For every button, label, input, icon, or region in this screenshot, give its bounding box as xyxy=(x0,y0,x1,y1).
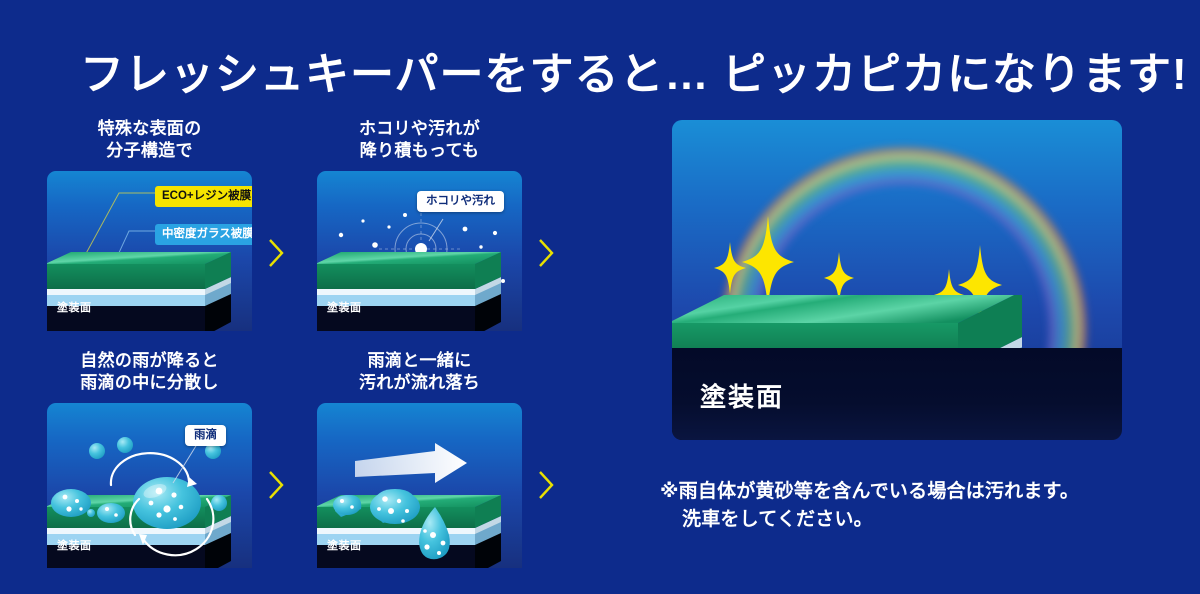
step-2-surface-label: 塗装面 xyxy=(327,299,362,315)
step-1-caption: 特殊な表面の 分子構造で xyxy=(47,118,252,163)
step-4: 雨滴と一緒に 汚れが流れ落ち xyxy=(317,350,522,568)
footnote-line2: 洗車をしてください。 xyxy=(660,506,1130,534)
step-2-caption-line2: 降り積もっても xyxy=(317,140,522,162)
hero-surface-label: 塗装面 xyxy=(700,377,784,414)
step-3-caption-line1: 自然の雨が降ると xyxy=(47,350,252,372)
step-3-label-raindrop: 雨滴 xyxy=(185,425,226,447)
step-3-slab xyxy=(47,495,235,568)
step-1-caption-line2: 分子構造で xyxy=(47,140,252,162)
heading-right: ピッカピカになります! xyxy=(722,38,1188,102)
step-4-slab xyxy=(317,495,505,568)
step-2-slab xyxy=(317,256,505,331)
step-3-card: 塗装面 雨滴 xyxy=(47,403,252,568)
step-2: ホコリや汚れが 降り積もっても xyxy=(317,118,522,331)
step-4-card: 塗装面 xyxy=(317,403,522,568)
footnote: ※雨自体が黄砂等を含んでいる場合は汚れます。 洗車をしてください。 xyxy=(660,478,1130,533)
step-1-label-glass: 中密度ガラス被膜 xyxy=(155,224,252,246)
step-1-slab xyxy=(47,256,235,331)
step-1: 特殊な表面の 分子構造で xyxy=(47,118,252,331)
steps-grid: 特殊な表面の 分子構造で xyxy=(0,110,620,590)
step-3-surface-label: 塗装面 xyxy=(57,537,92,553)
hero-panel: 塗装面 xyxy=(672,120,1122,440)
step-2-card: 塗装面 ホコリや汚れ xyxy=(317,171,522,331)
heading-left: フレッシュキーパーをすると… xyxy=(80,38,710,102)
step-2-caption: ホコリや汚れが 降り積もっても xyxy=(317,118,522,163)
step-3-caption: 自然の雨が降ると 雨滴の中に分散し xyxy=(47,350,252,395)
chevron-right-icon-2 xyxy=(535,236,557,270)
step-3-caption-line2: 雨滴の中に分散し xyxy=(47,372,252,394)
step-2-label-dust: ホコリや汚れ xyxy=(417,191,504,213)
infographic-root: フレッシュキーパーをすると… ピッカピカになります! 特殊な表面の 分子構造で xyxy=(0,0,1200,594)
step-2-caption-line1: ホコリや汚れが xyxy=(317,118,522,140)
step-1-surface-label: 塗装面 xyxy=(57,299,92,315)
chevron-right-icon-4 xyxy=(535,468,557,502)
step-1-caption-line1: 特殊な表面の xyxy=(47,118,252,140)
step-1-label-eco: ECO+レジン被膜 xyxy=(155,186,252,208)
step-1-card: 塗装面 ECO+レジン被膜 中密度ガラス被膜 xyxy=(47,171,252,331)
step-4-caption-line2: 汚れが流れ落ち xyxy=(317,372,522,394)
chevron-right-icon-1 xyxy=(265,236,287,270)
step-3: 自然の雨が降ると 雨滴の中に分散し xyxy=(47,350,252,568)
step-4-caption-line1: 雨滴と一緒に xyxy=(317,350,522,372)
step-4-caption: 雨滴と一緒に 汚れが流れ落ち xyxy=(317,350,522,395)
step-4-surface-label: 塗装面 xyxy=(327,537,362,553)
footnote-line1: ※雨自体が黄砂等を含んでいる場合は汚れます。 xyxy=(660,478,1130,506)
chevron-right-icon-3 xyxy=(265,468,287,502)
